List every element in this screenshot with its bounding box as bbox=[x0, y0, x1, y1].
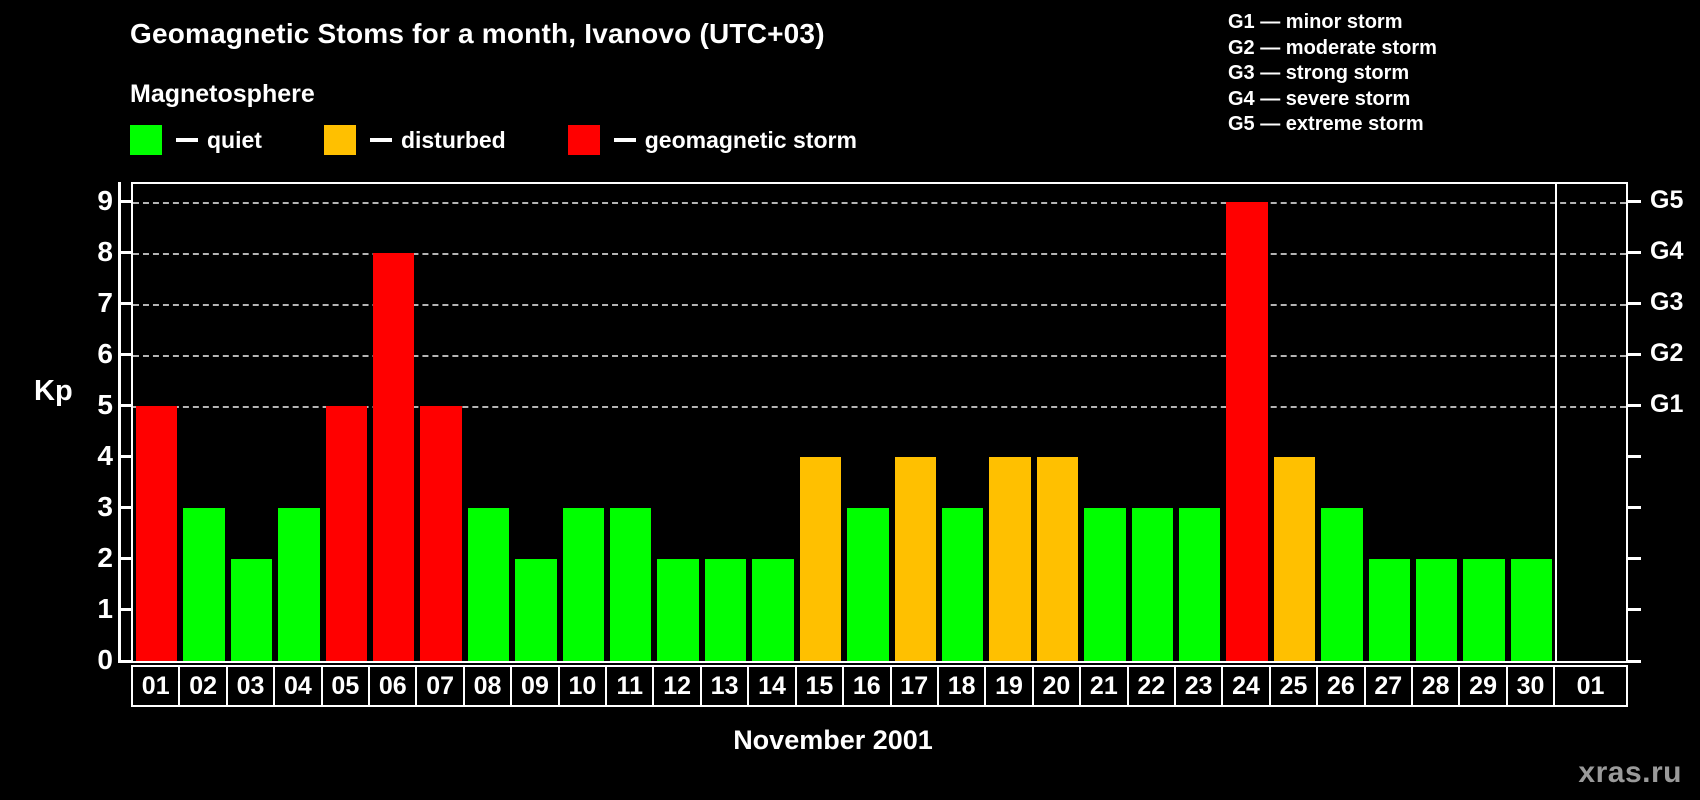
gscale-row-g4: G4 — severe storm bbox=[1228, 87, 1437, 113]
bar-cell-09[interactable] bbox=[512, 184, 559, 661]
bar-cell-03[interactable] bbox=[228, 184, 275, 661]
plot-inner bbox=[133, 184, 1626, 661]
bar-cell-27[interactable] bbox=[1366, 184, 1413, 661]
x-axis-day-05[interactable]: 05 bbox=[323, 667, 370, 705]
bar-day-07[interactable] bbox=[420, 406, 461, 661]
gscale-row-g2: G2 — moderate storm bbox=[1228, 36, 1437, 62]
x-axis-day-16[interactable]: 16 bbox=[844, 667, 891, 705]
bar-cell-05[interactable] bbox=[323, 184, 370, 661]
g-tick-label: G3 bbox=[1650, 290, 1683, 315]
x-axis-day-02[interactable]: 02 bbox=[180, 667, 227, 705]
bar-day-23[interactable] bbox=[1179, 508, 1220, 661]
bar-day-05[interactable] bbox=[326, 406, 367, 661]
legend: quietdisturbedgeomagnetic storm bbox=[130, 123, 857, 157]
bar-day-03[interactable] bbox=[231, 559, 272, 661]
watermark: xras.ru bbox=[1578, 756, 1682, 790]
gscale-key: G1 — minor stormG2 — moderate stormG3 — … bbox=[1228, 10, 1437, 138]
bars-area bbox=[133, 184, 1555, 661]
bar-day-10[interactable] bbox=[563, 508, 604, 661]
x-axis-day-30[interactable]: 30 bbox=[1508, 667, 1555, 705]
g-tick-mark bbox=[1628, 404, 1641, 407]
g-tick-label: G1 bbox=[1650, 392, 1683, 417]
g-tick-mark bbox=[1628, 353, 1641, 356]
legend-item-label: disturbed bbox=[401, 127, 506, 154]
bar-day-24[interactable] bbox=[1226, 202, 1267, 661]
bar-cell-13[interactable] bbox=[702, 184, 749, 661]
x-axis-day-12[interactable]: 12 bbox=[654, 667, 701, 705]
bar-cell-12[interactable] bbox=[654, 184, 701, 661]
g-tick-mark bbox=[1628, 506, 1641, 509]
y-tick-mark bbox=[118, 353, 131, 356]
x-axis-days: 0102030405060708091011121314151617181920… bbox=[133, 667, 1555, 705]
x-axis-day-20[interactable]: 20 bbox=[1034, 667, 1081, 705]
g-tick-mark bbox=[1628, 557, 1641, 560]
x-axis: 0102030405060708091011121314151617181920… bbox=[131, 665, 1628, 707]
x-axis-day-27[interactable]: 27 bbox=[1366, 667, 1413, 705]
bar-day-16[interactable] bbox=[847, 508, 888, 661]
y-axis-right-gscale: G1G2G3G4G5 bbox=[1628, 182, 1700, 663]
legend-dash-icon bbox=[176, 138, 198, 142]
x-axis-day-07[interactable]: 07 bbox=[417, 667, 464, 705]
bar-day-19[interactable] bbox=[989, 457, 1030, 661]
y-tick-label: 7 bbox=[97, 289, 113, 317]
magnetosphere-label: Magnetosphere bbox=[130, 80, 315, 109]
bar-cell-14[interactable] bbox=[749, 184, 796, 661]
x-axis-day-19[interactable]: 19 bbox=[986, 667, 1033, 705]
bar-cell-21[interactable] bbox=[1081, 184, 1128, 661]
bar-day-04[interactable] bbox=[278, 508, 319, 661]
bar-day-22[interactable] bbox=[1132, 508, 1173, 661]
x-axis-title-text: November 2001 bbox=[733, 725, 933, 756]
gscale-row-g3: G3 — strong storm bbox=[1228, 61, 1437, 87]
y-tick-mark bbox=[118, 557, 131, 560]
x-axis-day-29[interactable]: 29 bbox=[1460, 667, 1507, 705]
x-axis-day-21[interactable]: 21 bbox=[1081, 667, 1128, 705]
y-tick-label: 4 bbox=[97, 442, 113, 470]
y-tick-mark bbox=[118, 660, 131, 663]
bar-cell-04[interactable] bbox=[275, 184, 322, 661]
bar-cell-26[interactable] bbox=[1318, 184, 1365, 661]
bar-cell-18[interactable] bbox=[939, 184, 986, 661]
x-axis-day-18[interactable]: 18 bbox=[939, 667, 986, 705]
x-axis-day-09[interactable]: 09 bbox=[512, 667, 559, 705]
g-tick-label: G4 bbox=[1650, 239, 1683, 264]
legend-dash-icon bbox=[614, 138, 636, 142]
bar-day-14[interactable] bbox=[752, 559, 793, 661]
y-tick-label: 5 bbox=[97, 391, 113, 419]
bar-day-11[interactable] bbox=[610, 508, 651, 661]
x-axis-day-13[interactable]: 13 bbox=[702, 667, 749, 705]
disturbed-swatch bbox=[324, 125, 356, 155]
y-tick-mark bbox=[118, 251, 131, 254]
trailing-day-divider bbox=[1555, 184, 1557, 661]
g-tick-mark bbox=[1628, 455, 1641, 458]
x-axis-trailing-day: 01 bbox=[1555, 667, 1626, 705]
legend-item-disturbed: disturbed bbox=[324, 125, 506, 155]
bar-cell-02[interactable] bbox=[180, 184, 227, 661]
bar-cell-23[interactable] bbox=[1176, 184, 1223, 661]
bar-cell-08[interactable] bbox=[465, 184, 512, 661]
g-tick-label: G2 bbox=[1650, 341, 1683, 366]
y-tick-mark bbox=[118, 506, 131, 509]
y-tick-label: 2 bbox=[97, 544, 113, 572]
g-tick-label: G5 bbox=[1650, 188, 1683, 213]
bar-cell-06[interactable] bbox=[370, 184, 417, 661]
bar-day-20[interactable] bbox=[1037, 457, 1078, 661]
bar-day-15[interactable] bbox=[800, 457, 841, 661]
y-tick-label: 8 bbox=[97, 238, 113, 266]
y-tick-mark bbox=[118, 404, 131, 407]
g-tick-mark bbox=[1628, 200, 1641, 203]
bar-day-27[interactable] bbox=[1369, 559, 1410, 661]
bar-day-08[interactable] bbox=[468, 508, 509, 661]
bar-day-21[interactable] bbox=[1084, 508, 1125, 661]
bar-cell-28[interactable] bbox=[1413, 184, 1460, 661]
bar-cell-20[interactable] bbox=[1034, 184, 1081, 661]
bar-day-09[interactable] bbox=[515, 559, 556, 661]
legend-dash-icon bbox=[370, 138, 392, 142]
bar-day-12[interactable] bbox=[657, 559, 698, 661]
y-axis-left: 9876543210 bbox=[60, 182, 131, 663]
bar-cell-01[interactable] bbox=[133, 184, 180, 661]
x-axis-day-15[interactable]: 15 bbox=[797, 667, 844, 705]
x-axis-day-11[interactable]: 11 bbox=[607, 667, 654, 705]
bar-cell-15[interactable] bbox=[797, 184, 844, 661]
x-axis-day-28[interactable]: 28 bbox=[1413, 667, 1460, 705]
bar-day-13[interactable] bbox=[705, 559, 746, 661]
bar-cell-30[interactable] bbox=[1508, 184, 1555, 661]
y-tick-mark bbox=[118, 302, 131, 305]
g-tick-mark bbox=[1628, 251, 1641, 254]
y-tick-mark bbox=[118, 608, 131, 611]
x-axis-title: November 2001 bbox=[0, 725, 1700, 756]
x-axis-day-08[interactable]: 08 bbox=[465, 667, 512, 705]
legend-item-quiet: quiet bbox=[130, 125, 262, 155]
bar-day-01[interactable] bbox=[136, 406, 177, 661]
bar-day-28[interactable] bbox=[1416, 559, 1457, 661]
bar-cell-16[interactable] bbox=[844, 184, 891, 661]
x-axis-day-17[interactable]: 17 bbox=[892, 667, 939, 705]
bar-day-30[interactable] bbox=[1511, 559, 1552, 661]
bar-day-02[interactable] bbox=[183, 508, 224, 661]
bar-cell-07[interactable] bbox=[417, 184, 464, 661]
x-axis-day-24[interactable]: 24 bbox=[1223, 667, 1270, 705]
storm-swatch bbox=[568, 125, 600, 155]
bar-day-25[interactable] bbox=[1274, 457, 1315, 661]
bar-cell-11[interactable] bbox=[607, 184, 654, 661]
quiet-swatch bbox=[130, 125, 162, 155]
y-tick-label: 0 bbox=[97, 646, 113, 674]
y-tick-label: 3 bbox=[97, 493, 113, 521]
y-tick-label: 9 bbox=[97, 187, 113, 215]
g-tick-mark bbox=[1628, 660, 1641, 663]
bar-cell-25[interactable] bbox=[1271, 184, 1318, 661]
legend-item-label: quiet bbox=[207, 127, 262, 154]
x-axis-day-26[interactable]: 26 bbox=[1318, 667, 1365, 705]
gscale-row-g5: G5 — extreme storm bbox=[1228, 112, 1437, 138]
page-title: Geomagnetic Stoms for a month, Ivanovo (… bbox=[130, 18, 825, 50]
g-tick-mark bbox=[1628, 302, 1641, 305]
bar-day-06[interactable] bbox=[373, 253, 414, 661]
y-tick-mark bbox=[118, 455, 131, 458]
g-tick-mark bbox=[1628, 608, 1641, 611]
y-tick-label: 1 bbox=[97, 595, 113, 623]
x-axis-day-14[interactable]: 14 bbox=[749, 667, 796, 705]
bar-cell-29[interactable] bbox=[1460, 184, 1507, 661]
x-axis-day-25[interactable]: 25 bbox=[1271, 667, 1318, 705]
x-axis-day-23[interactable]: 23 bbox=[1176, 667, 1223, 705]
bar-cell-22[interactable] bbox=[1129, 184, 1176, 661]
gscale-row-g1: G1 — minor storm bbox=[1228, 10, 1437, 36]
x-axis-day-06[interactable]: 06 bbox=[370, 667, 417, 705]
bar-cell-10[interactable] bbox=[560, 184, 607, 661]
bar-day-17[interactable] bbox=[895, 457, 936, 661]
y-tick-label: 6 bbox=[97, 340, 113, 368]
x-axis-day-22[interactable]: 22 bbox=[1129, 667, 1176, 705]
bar-cell-19[interactable] bbox=[986, 184, 1033, 661]
bar-cell-17[interactable] bbox=[892, 184, 939, 661]
bar-day-18[interactable] bbox=[942, 508, 983, 661]
x-axis-day-01[interactable]: 01 bbox=[133, 667, 180, 705]
bar-day-29[interactable] bbox=[1463, 559, 1504, 661]
legend-item-geomagnetic-storm: geomagnetic storm bbox=[568, 125, 857, 155]
plot-area bbox=[131, 182, 1628, 663]
bar-cell-24[interactable] bbox=[1223, 184, 1270, 661]
x-axis-day-10[interactable]: 10 bbox=[560, 667, 607, 705]
y-tick-mark bbox=[118, 200, 131, 203]
legend-item-label: geomagnetic storm bbox=[645, 127, 857, 154]
bar-day-26[interactable] bbox=[1321, 508, 1362, 661]
x-axis-day-04[interactable]: 04 bbox=[275, 667, 322, 705]
x-axis-day-03[interactable]: 03 bbox=[228, 667, 275, 705]
